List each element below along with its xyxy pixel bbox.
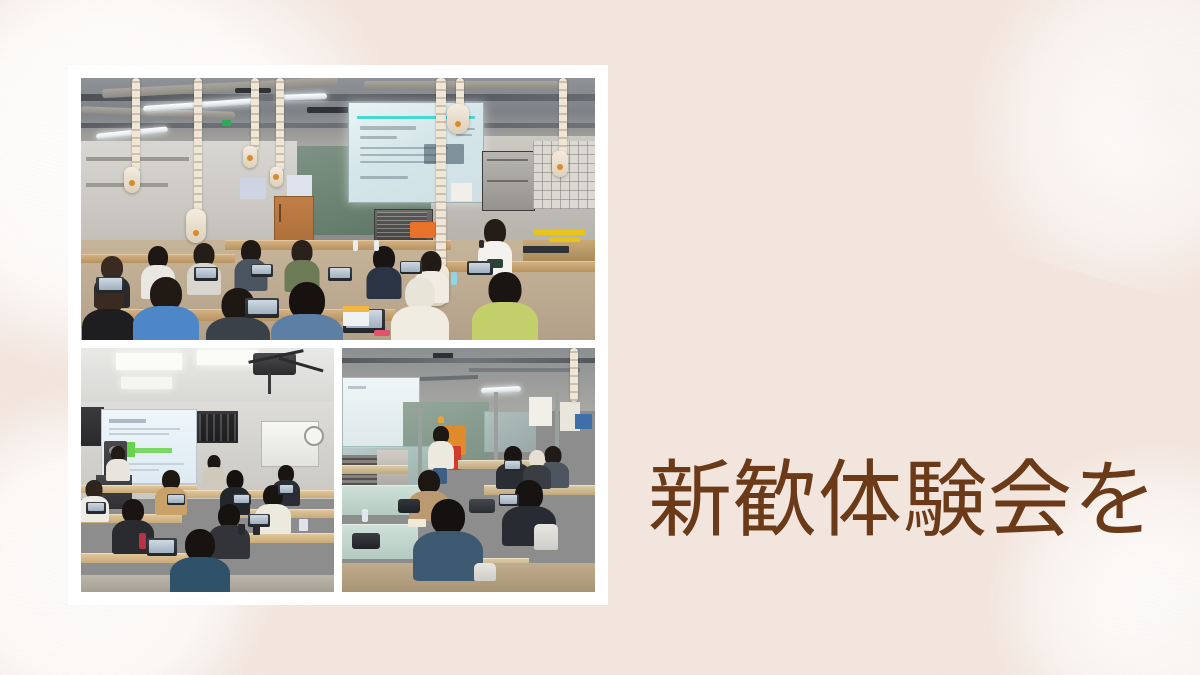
photo-bottom-left (81, 348, 334, 592)
photo-collage-frame (68, 65, 608, 605)
watercolor-wash-top-right-2 (1049, 0, 1200, 240)
slide-title-line-1: 新歓体験会を (648, 448, 1168, 554)
slide-title: 新歓体験会を 開催しました (648, 236, 1168, 675)
photo-top (81, 78, 595, 340)
photo-bottom-right (342, 348, 595, 592)
slide-canvas: 新歓体験会を 開催しました (0, 0, 1200, 675)
collage-row-bottom (81, 348, 595, 592)
collage-row-top (81, 78, 595, 340)
